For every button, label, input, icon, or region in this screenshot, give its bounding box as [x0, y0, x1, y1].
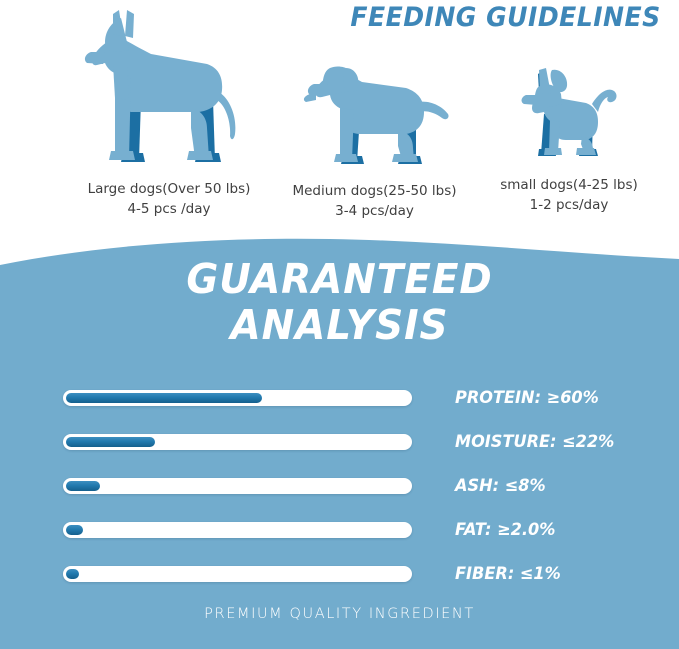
- nutrient-row-fiber: FIBER: ≤1%: [0, 552, 679, 596]
- nutrient-bar-fill-fiber: [66, 569, 79, 579]
- nutrient-label-fat: FAT: ≥2.0%: [455, 520, 555, 540]
- chihuahua-silhouette-icon: [470, 62, 668, 162]
- analysis-title-line-1: GUARANTEED: [17, 257, 662, 303]
- nutrient-bar-track-protein: [63, 390, 412, 406]
- guaranteed-analysis-section: GUARANTEED ANALYSIS PROTEIN: ≥60% MOISTU…: [0, 225, 679, 649]
- feeding-size-label-small: small dogs(4-25 lbs): [470, 176, 668, 196]
- nutrient-label-protein: PROTEIN: ≥60%: [455, 388, 599, 408]
- premium-quality-footer: PREMIUM QUALITY INGREDIENT: [0, 606, 679, 622]
- nutrient-bar-chart: PROTEIN: ≥60% MOISTURE: ≤22% ASH: ≤8% FA…: [0, 376, 679, 596]
- feeding-size-label-large: Large dogs(Over 50 lbs): [40, 180, 298, 200]
- guaranteed-analysis-title: GUARANTEED ANALYSIS: [0, 257, 679, 349]
- nutrient-label-moisture: MOISTURE: ≤22%: [455, 432, 614, 452]
- feeding-size-label-medium: Medium dogs(25-50 lbs): [272, 182, 477, 202]
- nutrient-bar-fill-ash: [66, 481, 100, 491]
- nutrient-row-protein: PROTEIN: ≥60%: [0, 376, 679, 420]
- feeding-guidelines-title: FEEDING GUIDELINES: [351, 2, 661, 33]
- nutrient-bar-fill-fat: [66, 525, 83, 535]
- great-dane-silhouette-icon: [40, 8, 298, 168]
- nutrient-bar-track-moisture: [63, 434, 412, 450]
- feeding-entry-medium: Medium dogs(25-50 lbs) 3-4 pcs/day: [272, 50, 477, 221]
- nutrient-row-moisture: MOISTURE: ≤22%: [0, 420, 679, 464]
- nutrient-bar-track-ash: [63, 478, 412, 494]
- nutrient-label-fiber: FIBER: ≤1%: [455, 564, 561, 584]
- nutrient-bar-track-fat: [63, 522, 412, 538]
- nutrient-bar-fill-moisture: [66, 437, 155, 447]
- nutrient-row-ash: ASH: ≤8%: [0, 464, 679, 508]
- feeding-amount-label-large: 4-5 pcs /day: [40, 200, 298, 220]
- nutrient-label-ash: ASH: ≤8%: [455, 476, 546, 496]
- feeding-amount-label-medium: 3-4 pcs/day: [272, 202, 477, 222]
- feeding-entry-small: small dogs(4-25 lbs) 1-2 pcs/day: [470, 62, 668, 215]
- feeding-amount-label-small: 1-2 pcs/day: [470, 196, 668, 216]
- nutrient-row-fat: FAT: ≥2.0%: [0, 508, 679, 552]
- nutrient-bar-fill-protein: [66, 393, 262, 403]
- analysis-title-line-2: ANALYSIS: [17, 303, 662, 349]
- labrador-silhouette-icon: [272, 50, 477, 170]
- feeding-entry-large: Large dogs(Over 50 lbs) 4-5 pcs /day: [40, 8, 298, 219]
- nutrient-bar-track-fiber: [63, 566, 412, 582]
